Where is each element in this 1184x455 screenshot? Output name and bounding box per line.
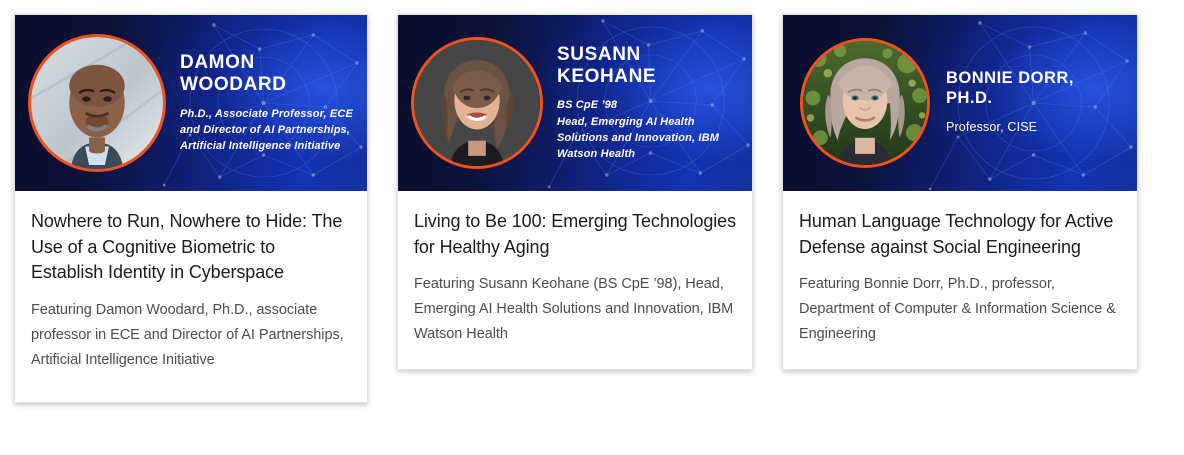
card-banner: SUSANN KEOHANE BS CpE ’98 Head, Emerging… <box>398 15 752 191</box>
speaker-title: BS CpE ’98 Head, Emerging AI Health Solu… <box>557 97 740 162</box>
portrait-frame <box>28 34 166 172</box>
speaker-title: Ph.D., Associate Professor, ECE and Dire… <box>180 106 355 155</box>
card-banner: DAMON WOODARD Ph.D., Associate Professor… <box>15 15 367 191</box>
talk-title: Living to Be 100: Emerging Technologies … <box>414 209 736 260</box>
card-banner: BONNIE DORR, PH.D. Professor, CISE <box>783 15 1137 191</box>
portrait-frame <box>796 38 930 168</box>
talk-description: Featuring Damon Woodard, Ph.D., associat… <box>31 298 351 373</box>
card-body: Nowhere to Run, Nowhere to Hide: The Use… <box>15 191 367 402</box>
talk-description: Featuring Susann Keohane (BS CpE ’98), H… <box>414 272 736 347</box>
banner-text-block: SUSANN KEOHANE BS CpE ’98 Head, Emerging… <box>543 44 752 163</box>
talk-title: Human Language Technology for Active Def… <box>799 209 1121 260</box>
speaker-portrait <box>28 34 166 172</box>
portrait-frame <box>411 37 543 169</box>
speaker-title: Professor, CISE <box>946 118 1125 137</box>
speaker-portrait <box>800 38 930 168</box>
talk-title: Nowhere to Run, Nowhere to Hide: The Use… <box>31 209 351 286</box>
card-body: Living to Be 100: Emerging Technologies … <box>398 191 752 369</box>
talk-description: Featuring Bonnie Dorr, Ph.D., professor,… <box>799 272 1121 347</box>
speaker-name: SUSANN KEOHANE <box>557 44 740 89</box>
speaker-card-grid: DAMON WOODARD Ph.D., Associate Professor… <box>0 0 1184 455</box>
speaker-name: BONNIE DORR, PH.D. <box>946 69 1125 108</box>
card-body: Human Language Technology for Active Def… <box>783 191 1137 369</box>
speaker-card[interactable]: DAMON WOODARD Ph.D., Associate Professor… <box>14 14 368 403</box>
speaker-portrait <box>411 37 543 169</box>
speaker-name: DAMON WOODARD <box>180 52 355 97</box>
banner-text-block: DAMON WOODARD Ph.D., Associate Professor… <box>166 52 367 155</box>
speaker-card[interactable]: BONNIE DORR, PH.D. Professor, CISE Human… <box>782 14 1138 370</box>
speaker-card[interactable]: SUSANN KEOHANE BS CpE ’98 Head, Emerging… <box>397 14 753 370</box>
banner-text-block: BONNIE DORR, PH.D. Professor, CISE <box>930 69 1137 136</box>
